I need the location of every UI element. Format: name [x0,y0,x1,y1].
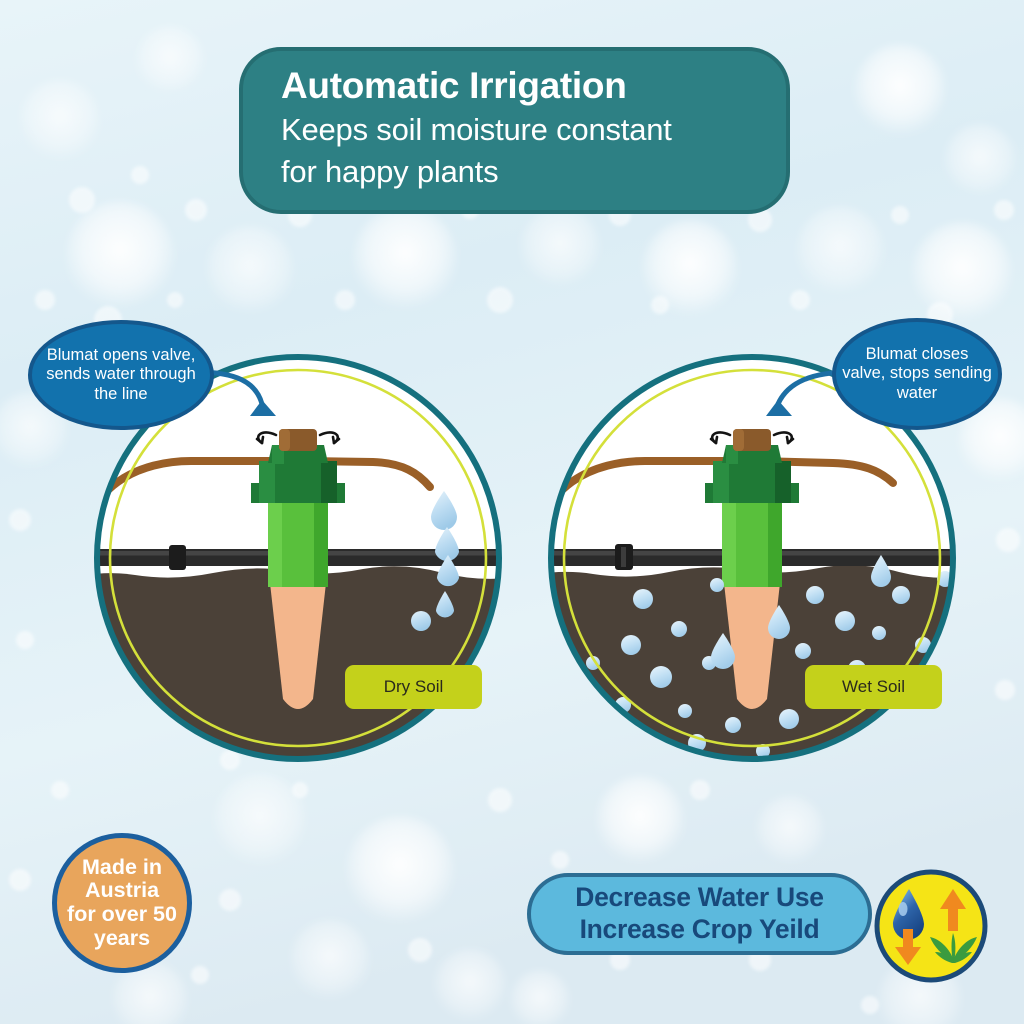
soil-label-wet: Wet Soil [805,665,942,709]
water-plant-benefit-icon [872,867,990,985]
callout-bubble-right: Blumat closes valve, stops sending water [832,318,1002,430]
austria-line-3: for over 50 [67,903,177,927]
austria-line-2: Austria [85,879,159,903]
benefits-banner: Decrease Water Use Increase Crop Yeild [527,873,872,955]
soil-label-dry: Dry Soil [345,665,482,709]
callout-bubble-left: Blumat opens valve, sends water through … [28,320,214,430]
made-in-austria-badge: Made in Austria for over 50 years [52,833,192,973]
austria-line-4: years [94,927,150,951]
soil-label-dry-text: Dry Soil [384,677,444,697]
callout-right-text: Blumat closes valve, stops sending water [836,345,998,403]
header-subtitle-line-1: Keeps soil moisture constant [281,110,756,151]
austria-line-1: Made in [82,856,162,880]
banner-line-2: Increase Crop Yeild [580,914,820,946]
page-title: Automatic Irrigation [281,65,756,108]
header-banner: Automatic Irrigation Keeps soil moisture… [239,47,790,214]
soil-label-wet-text: Wet Soil [842,677,905,697]
header-subtitle-line-2: for happy plants [281,152,756,193]
callout-left-text: Blumat opens valve, sends water through … [32,346,210,404]
banner-line-1: Decrease Water Use [575,882,823,914]
